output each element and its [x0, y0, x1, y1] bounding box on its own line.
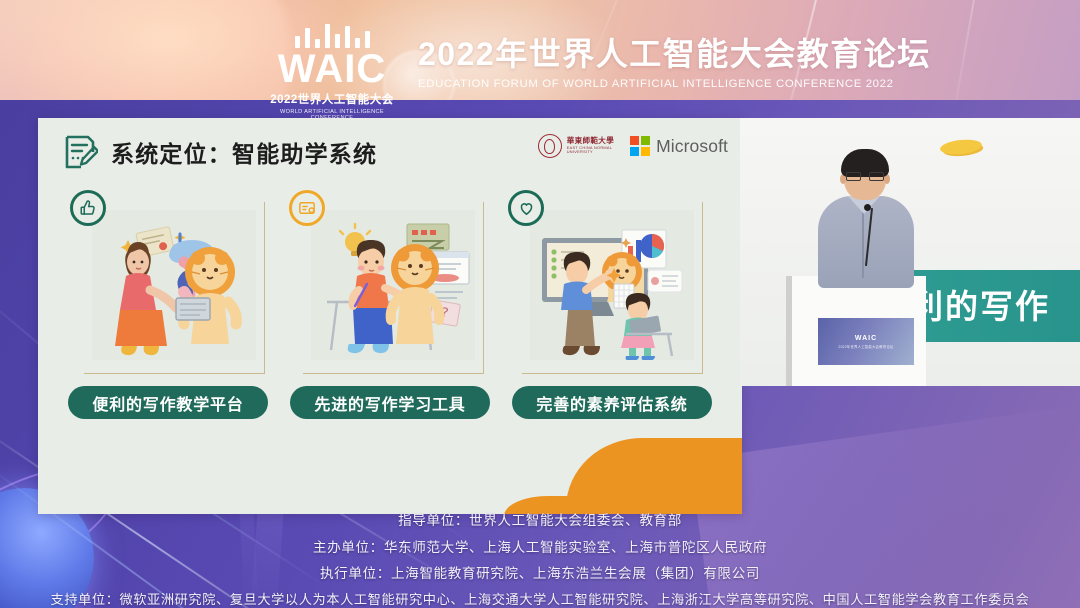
- microsoft-logo: Microsoft: [630, 136, 728, 157]
- background-screen-text: 利的写作: [910, 280, 1050, 328]
- forum-title-block: 2022年世界人工智能大会教育论坛 EDUCATION FORUM OF WOR…: [418, 38, 931, 90]
- microphone-icon: [864, 204, 871, 211]
- sponsor-footer: 指导单位：世界人工智能大会组委会、教育部 主办单位：华东师范大学、上海人工智能实…: [0, 508, 1080, 608]
- speaker-glasses: [846, 172, 884, 181]
- card-illustration: [92, 210, 256, 360]
- podium-waic-logo: WAIC: [855, 335, 877, 342]
- slide-header: 系统定位：智能助学系统: [64, 134, 377, 170]
- ecnu-seal-icon: [538, 134, 562, 158]
- microsoft-squares-icon: [630, 136, 650, 156]
- slide-sponsor-logos: 華東師範大學 EAST CHINA NORMAL UNIVERSITY Micr…: [538, 134, 728, 158]
- feature-cards: ?: [70, 190, 710, 360]
- podium-placard-text: 2022年世界人工智能大会教育论坛: [838, 344, 893, 349]
- feature-pill: 先进的写作学习工具: [290, 386, 490, 419]
- forum-title: 2022年世界人工智能大会教育论坛: [418, 38, 931, 72]
- id-card-icon: [289, 190, 325, 226]
- speaker-shirt-placket: [862, 206, 864, 278]
- thumbs-up-icon: [70, 190, 106, 226]
- feature-pill-labels: 便利的写作教学平台 先进的写作学习工具 完善的素养评估系统: [68, 386, 712, 419]
- footer-line: 指导单位：世界人工智能大会组委会、教育部: [0, 508, 1080, 535]
- feature-pill: 完善的素养评估系统: [512, 386, 712, 419]
- footer-line: 执行单位：上海智能教育研究院、上海东浩兰生会展（集团）有限公司: [0, 561, 1080, 588]
- slide-title: 系统定位：智能助学系统: [111, 135, 377, 169]
- waic-logo-wordmark: WAIC: [268, 50, 396, 88]
- conference-header: WAIC 2022世界人工智能大会 WORLD ARTIFICIAL INTEL…: [0, 0, 1080, 118]
- waic-logo-bars-icon: [268, 22, 396, 48]
- speaker-video-panel: 利的写作 WAIC 2022年世界人工智能大会教育论坛: [740, 118, 1080, 386]
- card-illustration: [530, 210, 694, 360]
- waic-logo-chinese: 2022世界人工智能大会: [268, 91, 396, 107]
- waic-logo: WAIC 2022世界人工智能大会 WORLD ARTIFICIAL INTEL…: [268, 22, 396, 121]
- presentation-slide: 系统定位：智能助学系统 華東師範大學 EAST CHINA NORMAL UNI…: [38, 118, 742, 514]
- footer-line: 主办单位：华东师范大学、上海人工智能实验室、上海市普陀区人民政府: [0, 535, 1080, 562]
- podium: WAIC 2022年世界人工智能大会教育论坛: [786, 276, 926, 386]
- feature-card: ?: [289, 190, 484, 360]
- ecnu-name-en-line2: UNIVERSITY: [567, 150, 614, 154]
- ecnu-logo: 華東師範大學 EAST CHINA NORMAL UNIVERSITY: [538, 134, 614, 158]
- feature-card: [508, 190, 703, 360]
- card-illustration: ?: [311, 210, 475, 360]
- microsoft-wordmark: Microsoft: [656, 136, 728, 157]
- podium-placard: WAIC 2022年世界人工智能大会教育论坛: [818, 318, 914, 365]
- footer-line: 支持单位：微软亚洲研究院、复旦大学以人为本人工智能研究中心、上海交通大学人工智能…: [0, 588, 1080, 608]
- speaker-figure: [812, 152, 922, 282]
- document-edit-icon: [64, 134, 98, 170]
- feature-pill: 便利的写作教学平台: [68, 386, 268, 419]
- feature-card: [70, 190, 265, 360]
- heart-icon: [508, 190, 544, 226]
- slide-orange-accent: [566, 438, 742, 514]
- forum-subtitle: EDUCATION FORUM OF WORLD ARTIFICIAL INTE…: [418, 78, 931, 90]
